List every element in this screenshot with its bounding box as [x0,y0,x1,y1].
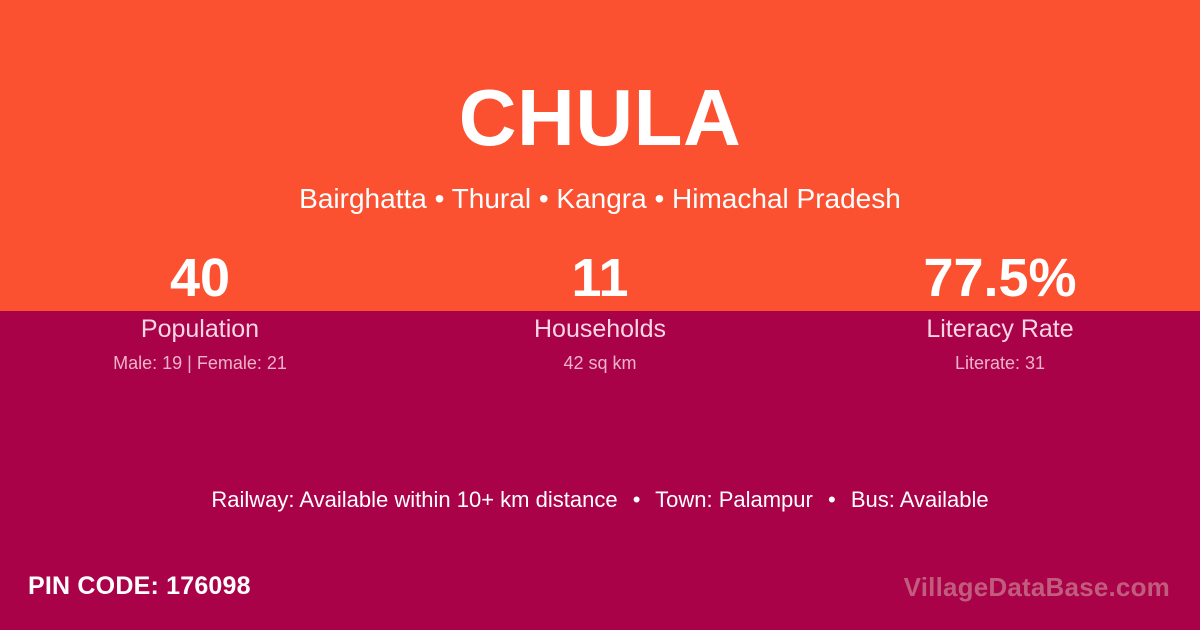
stat-sub-literacy-rate: Literate: 31 [800,351,1200,375]
infra-separator-1: • [624,486,650,514]
stat-label-population: Population [0,314,400,344]
stat-value-literacy-rate: 77.5% [800,246,1200,310]
stat-population: 40 Population Male: 19 | Female: 21 [0,246,400,375]
stat-value-households: 11 [400,246,800,310]
stat-value-population: 40 [0,246,400,310]
stat-sub-population: Male: 19 | Female: 21 [0,351,400,375]
stat-households: 11 Households 42 sq km [400,246,800,375]
pin-code: PIN CODE: 176098 [28,570,251,602]
breadcrumb: Bairghatta • Thural • Kangra • Himachal … [0,182,1200,216]
stat-label-households: Households [400,314,800,344]
page-title: CHULA [0,78,1200,158]
infra-town: Town: Palampur [655,487,813,512]
infrastructure-line: Railway: Available within 10+ km distanc… [0,486,1200,514]
stats-row: 40 Population Male: 19 | Female: 21 11 H… [0,246,1200,375]
village-info-card: CHULA Bairghatta • Thural • Kangra • Him… [0,0,1200,630]
brand-watermark: VillageDataBase.com [904,571,1170,603]
infra-separator-2: • [819,486,845,514]
infra-bus: Bus: Available [851,487,989,512]
stat-label-literacy-rate: Literacy Rate [800,314,1200,344]
infra-railway: Railway: Available within 10+ km distanc… [211,487,617,512]
footer: PIN CODE: 176098 VillageDataBase.com [0,556,1200,630]
stat-sub-households: 42 sq km [400,351,800,375]
stat-literacy-rate: 77.5% Literacy Rate Literate: 31 [800,246,1200,375]
